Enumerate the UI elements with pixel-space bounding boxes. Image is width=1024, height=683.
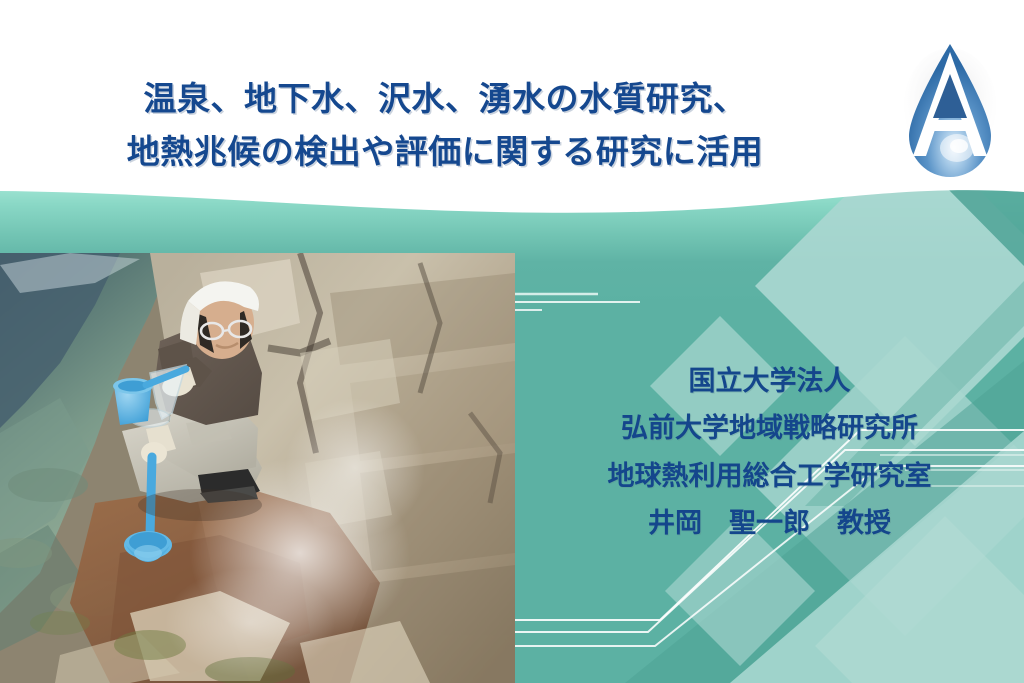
affiliation-line-3: 地球熱利用総合工学研究室 xyxy=(515,453,1024,500)
affiliation-line-2: 弘前大学地域戦略研究所 xyxy=(515,405,1024,452)
affiliation-block: 国立大学法人 弘前大学地域戦略研究所 地球熱利用総合工学研究室 井岡 聖一郎 教… xyxy=(515,358,1024,547)
affiliation-line-1: 国立大学法人 xyxy=(515,358,1024,405)
researcher-photo xyxy=(0,253,515,683)
title-line-2: 地熱兆候の検出や評価に関する研究に活用 xyxy=(0,125,890,178)
slide-root: 温泉、地下水、沢水、湧水の水質研究、 地熱兆候の検出や評価に関する研究に活用 xyxy=(0,0,1024,683)
slide-title: 温泉、地下水、沢水、湧水の水質研究、 地熱兆候の検出や評価に関する研究に活用 xyxy=(0,72,890,179)
water-droplet-a-logo xyxy=(895,36,1005,194)
affiliation-line-4: 井岡 聖一郎 教授 xyxy=(515,500,1024,547)
title-line-1: 温泉、地下水、沢水、湧水の水質研究、 xyxy=(0,72,890,125)
